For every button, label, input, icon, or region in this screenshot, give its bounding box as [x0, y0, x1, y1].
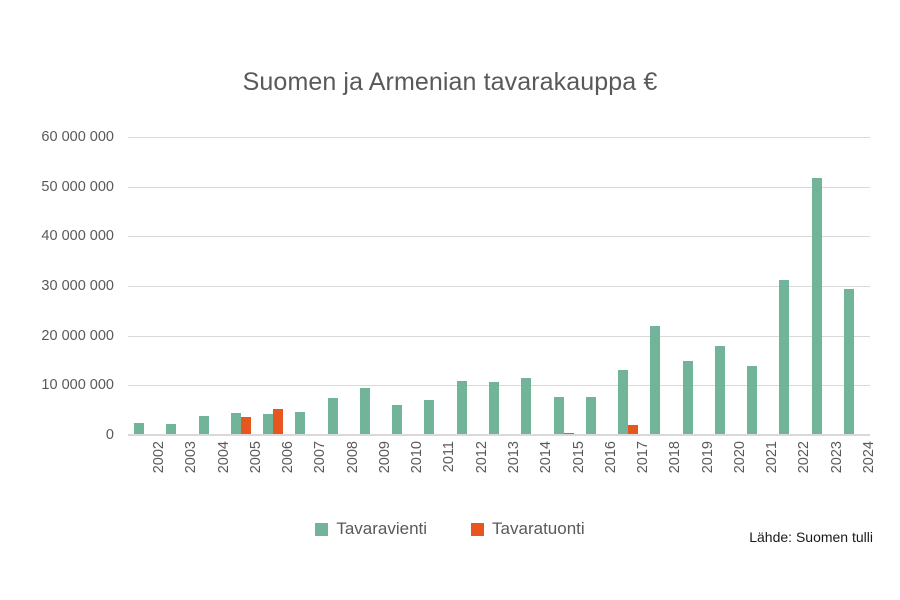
x-axis-tick-label-2023: 2023 [829, 441, 845, 473]
bar-group-2009[interactable] [354, 137, 386, 435]
bar-tavaravienti-2024[interactable] [844, 289, 854, 435]
y-axis-tick-label: 20 000 000 [4, 328, 114, 344]
x-axis: 2002200320042005200620072008200920102011… [128, 441, 870, 503]
legend-label: Tavaratuonti [492, 519, 585, 539]
x-axis-tick-label-2011: 2011 [441, 441, 457, 472]
bar-tavaravienti-2004[interactable] [199, 416, 209, 435]
bar-group-2014[interactable] [515, 137, 547, 435]
bar-tavaravienti-2010[interactable] [392, 405, 402, 435]
x-axis-tick-label-2018: 2018 [667, 441, 683, 473]
y-axis-tick-label: 50 000 000 [4, 179, 114, 195]
chart-container: Suomen ja Armenian tavarakauppa € 010 00… [0, 0, 900, 600]
bar-group-2003[interactable] [160, 137, 192, 435]
bar-group-2005[interactable] [225, 137, 257, 435]
legend-swatch-icon [315, 523, 328, 536]
x-axis-tick-label-2019: 2019 [700, 441, 716, 473]
bar-tavaravienti-2005[interactable] [231, 413, 241, 435]
x-axis-tick-label-2006: 2006 [280, 441, 296, 473]
legend-item-tavaratuonti[interactable]: Tavaratuonti [471, 519, 585, 539]
legend-item-tavaravienti[interactable]: Tavaravienti [315, 519, 427, 539]
bar-group-2018[interactable] [644, 137, 676, 435]
y-axis-tick-label: 40 000 000 [4, 228, 114, 244]
x-axis-tick-label-2009: 2009 [377, 441, 393, 473]
bar-group-2013[interactable] [483, 137, 515, 435]
x-axis-tick-label-2002: 2002 [151, 441, 167, 473]
bar-group-2012[interactable] [451, 137, 483, 435]
bar-tavaravienti-2007[interactable] [295, 412, 305, 435]
x-axis-tick-label-2021: 2021 [764, 441, 780, 473]
bar-tavaravienti-2021[interactable] [747, 366, 757, 435]
bar-group-2017[interactable] [612, 137, 644, 435]
legend-label: Tavaravienti [336, 519, 427, 539]
x-axis-tick-label-2017: 2017 [635, 441, 651, 473]
bar-tavaravienti-2022[interactable] [779, 280, 789, 435]
x-axis-tick-label-2012: 2012 [474, 441, 490, 473]
plot-area [128, 137, 870, 435]
bar-group-2002[interactable] [128, 137, 160, 435]
x-axis-line [128, 434, 870, 436]
bar-tavaravienti-2017[interactable] [618, 370, 628, 435]
x-axis-tick-label-2008: 2008 [345, 441, 361, 473]
bar-tavaravienti-2018[interactable] [650, 326, 660, 435]
x-axis-tick-label-2015: 2015 [571, 441, 587, 473]
x-axis-tick-label-2020: 2020 [732, 441, 748, 473]
bar-tavaravienti-2014[interactable] [521, 378, 531, 435]
bar-group-2011[interactable] [418, 137, 450, 435]
x-axis-tick-label-2013: 2013 [506, 441, 522, 473]
y-axis-tick-label: 60 000 000 [4, 129, 114, 145]
legend-swatch-icon [471, 523, 484, 536]
bar-group-2010[interactable] [386, 137, 418, 435]
bar-tavaravienti-2019[interactable] [683, 361, 693, 435]
source-note: Lähde: Suomen tulli [749, 529, 873, 545]
bar-group-2024[interactable] [838, 137, 870, 435]
x-axis-tick-label-2007: 2007 [312, 441, 328, 473]
bar-tavaravienti-2012[interactable] [457, 381, 467, 435]
x-axis-tick-label-2014: 2014 [538, 441, 554, 473]
bar-tavaratuonti-2006[interactable] [273, 409, 283, 435]
bar-tavaravienti-2013[interactable] [489, 382, 499, 435]
y-axis-tick-label: 0 [4, 427, 114, 443]
y-axis-tick-label: 30 000 000 [4, 278, 114, 294]
bar-tavaravienti-2008[interactable] [328, 398, 338, 435]
bar-group-2008[interactable] [322, 137, 354, 435]
x-axis-tick-label-2005: 2005 [248, 441, 264, 473]
x-axis-tick-label-2016: 2016 [603, 441, 619, 473]
bar-tavaravienti-2011[interactable] [424, 400, 434, 435]
bar-group-2023[interactable] [805, 137, 837, 435]
x-axis-tick-label-2024: 2024 [861, 441, 877, 473]
bar-tavaravienti-2009[interactable] [360, 388, 370, 435]
bar-tavaravienti-2020[interactable] [715, 346, 725, 435]
x-axis-tick-label-2010: 2010 [409, 441, 425, 473]
bar-tavaravienti-2023[interactable] [812, 178, 822, 435]
y-axis-tick-label: 10 000 000 [4, 377, 114, 393]
bar-group-2019[interactable] [676, 137, 708, 435]
chart-title: Suomen ja Armenian tavarakauppa € [0, 68, 900, 97]
bar-group-2021[interactable] [741, 137, 773, 435]
bar-tavaratuonti-2005[interactable] [241, 417, 251, 435]
bar-group-2016[interactable] [580, 137, 612, 435]
bar-group-2022[interactable] [773, 137, 805, 435]
bar-group-2007[interactable] [289, 137, 321, 435]
x-axis-tick-label-2003: 2003 [183, 441, 199, 473]
bar-group-2015[interactable] [547, 137, 579, 435]
bar-group-2006[interactable] [257, 137, 289, 435]
bar-group-2020[interactable] [709, 137, 741, 435]
x-axis-tick-label-2022: 2022 [796, 441, 812, 473]
x-axis-tick-label-2004: 2004 [216, 441, 232, 473]
bar-group-2004[interactable] [193, 137, 225, 435]
bar-tavaravienti-2016[interactable] [586, 397, 596, 435]
bar-tavaravienti-2006[interactable] [263, 414, 273, 435]
bar-tavaravienti-2015[interactable] [554, 397, 564, 435]
